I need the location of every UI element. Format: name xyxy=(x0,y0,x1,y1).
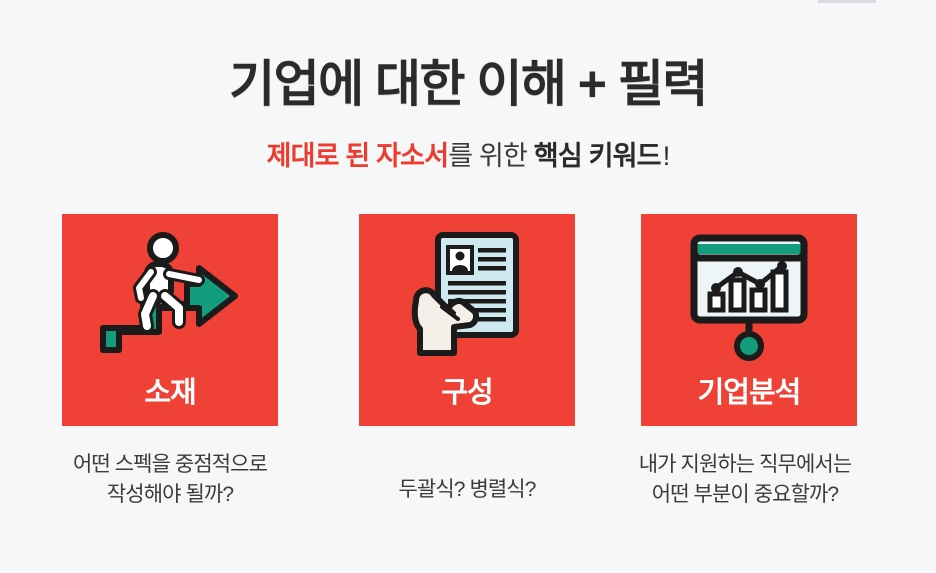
person-climbing-stairs-icon xyxy=(62,232,278,362)
subline-block: 제대로 된 자소서를 위한 핵심 키워드! xyxy=(0,140,936,172)
page-title: 기업에 대한 이해 + 필력 xyxy=(0,56,936,114)
card-label: 기업분석 xyxy=(641,379,857,408)
top-edge-artifact xyxy=(818,0,876,3)
card-soje[interactable]: 소재 xyxy=(62,214,278,426)
presentation-chart-board-icon xyxy=(641,232,857,362)
caption-line: 어떤 부분이 중요할까? xyxy=(595,480,895,510)
card-guseong[interactable]: 구성 xyxy=(359,214,575,426)
caption-line: 내가 지원하는 직무에서는 xyxy=(595,450,895,480)
card-label: 소재 xyxy=(62,379,278,408)
subtitle-plain: 를 위한 xyxy=(448,141,534,171)
card-caption-guseong: 두괄식? 병렬식? xyxy=(322,475,612,505)
hand-holding-resume-icon xyxy=(359,232,575,362)
card-gieopbunseok[interactable]: 기업분석 xyxy=(641,214,857,426)
caption-line: 어떤 스펙을 중점적으로 xyxy=(20,450,320,480)
page-subtitle: 제대로 된 자소서를 위한 핵심 키워드! xyxy=(0,140,936,172)
subtitle-exclamation: ! xyxy=(661,141,670,171)
subtitle-highlight: 제대로 된 자소서 xyxy=(267,141,449,171)
subtitle-bold: 핵심 키워드 xyxy=(534,141,661,171)
caption-line: 작성해야 될까? xyxy=(20,480,320,510)
infographic-canvas: 기업에 대한 이해 + 필력 제대로 된 자소서를 위한 핵심 키워드! xyxy=(0,0,936,573)
card-caption-gieopbunseok: 내가 지원하는 직무에서는 어떤 부분이 중요할까? xyxy=(595,450,895,510)
headline-block: 기업에 대한 이해 + 필력 xyxy=(0,56,936,114)
caption-line: 두괄식? 병렬식? xyxy=(322,475,612,505)
card-caption-soje: 어떤 스펙을 중점적으로 작성해야 될까? xyxy=(20,450,320,510)
card-label: 구성 xyxy=(359,379,575,408)
